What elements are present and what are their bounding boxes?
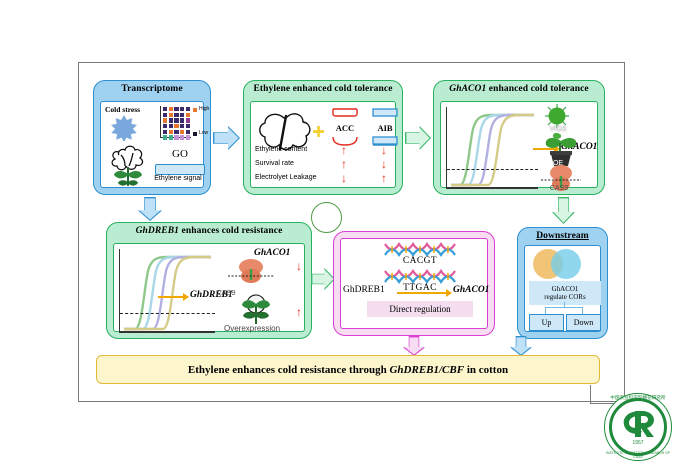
arrow-downstream-to-banner: [510, 336, 532, 356]
heatmap-row: [163, 135, 199, 139]
heatmap-legend-high-swatch: [193, 108, 197, 112]
metric-acc-trend-ethylene-content: ↑: [341, 144, 347, 156]
panel-transcriptome: Transcriptome Cold stress: [93, 80, 211, 195]
panel-ghaco1-body: GhACO1 VIGS OE: [440, 101, 598, 188]
summary-banner-text: Ethylene enhances cold resistance throug…: [188, 364, 508, 376]
heatmap-cell: [180, 135, 184, 139]
updown-connector-stem: [564, 302, 565, 308]
heatmap-cell: [169, 107, 173, 111]
metric-aib-trend-electrolyte-leakage: ↑: [381, 172, 387, 184]
aib-label: AIB: [367, 123, 403, 133]
arrow-ethylene-to-ghaco1: [405, 126, 431, 150]
overexpression-label: Overexpression: [224, 324, 280, 333]
logo-chinese-text: 中国农业科学院棉花研究所: [604, 395, 672, 401]
heatmap-cell: [174, 118, 178, 122]
arrow-ghaco1-to-downstream: [552, 197, 575, 224]
logo-year: 1957: [604, 440, 672, 446]
downstream-up-box: Up: [529, 314, 564, 331]
motif-cacgt: CACGT: [383, 256, 457, 266]
acc-vessel-top-icon: [331, 108, 359, 117]
arrow-transcriptome-to-ghdreb1: [138, 197, 162, 221]
heatmap-cell: [163, 135, 167, 139]
heatmap-cell: [163, 118, 167, 122]
panel-downstream-body: GhACO1 regulate CORs Up Down: [524, 245, 601, 332]
summary-banner: Ethylene enhances cold resistance throug…: [96, 355, 600, 384]
direct-source-tf-label: GhDREB1: [343, 285, 385, 295]
updown-connector-right: [582, 307, 583, 314]
panel-ghaco1-title-rest: enhanced cold tolerance: [486, 84, 588, 94]
qpcr-plot-ghaco1: [446, 107, 538, 189]
heatmap-cell: [163, 107, 167, 111]
heatmap-y-axis: [160, 106, 161, 138]
heatmap-cell: [174, 113, 178, 117]
overexpression-cotton-icon: [232, 292, 280, 326]
metric-label-electrolyte-leakage: Electrolyet Leakage: [255, 174, 316, 181]
dna-helix-icon-2: [383, 269, 457, 284]
logo-cr-monogram-icon: [618, 408, 658, 440]
ethylene-signal-bar: [155, 164, 205, 175]
heatmap-cell: [163, 113, 167, 117]
qpcr-threshold-line-2: [120, 313, 215, 314]
panel-transcriptome-body: Cold stress High Low: [100, 101, 204, 188]
metric-acc-trend-electrolyte-leakage: ↓: [341, 172, 347, 184]
cor-caption-line1: GhACO1: [552, 285, 579, 293]
updown-connector-left: [545, 307, 546, 314]
dna-helix-icon-1: [383, 242, 457, 257]
heatmap-cell: [186, 118, 190, 122]
metric-label-ethylene-content: Ethylene content: [255, 146, 307, 153]
metric-acc-trend-survival-rate: ↑: [341, 158, 347, 170]
acc-label: ACC: [327, 123, 363, 133]
cas9-protein-icon-2: [228, 258, 274, 284]
heatmap-cell: [186, 107, 190, 111]
connector-node: [311, 202, 342, 233]
heatmap-cell: [186, 113, 190, 117]
panel-ghdreb1-title-gene: GhDREB1: [136, 226, 179, 236]
panel-ghaco1-title-gene: GhACO1: [449, 84, 486, 94]
panel-ethylene-title: Ethylene enhanced cold tolerance: [244, 84, 402, 94]
heatmap-cell: [180, 130, 184, 134]
direct-target-gene-label: GhACO1: [453, 285, 489, 295]
heatmap-cell: [180, 107, 184, 111]
ghaco1-oe-trend: ↑: [296, 306, 302, 318]
panel-ethylene-body: ACC AIB Ethylene content Survival rate E…: [250, 101, 396, 188]
panel-direct-body: CACGT TTGAC GhDREB1 GhACO1 Direct regula…: [340, 238, 488, 329]
arrow-ghdreb1-to-direct: [311, 268, 335, 290]
panel-ghdreb1-title-rest: enhances cold resistance: [179, 226, 282, 236]
heatmap-legend-low-label: Low: [199, 130, 208, 136]
heatmap-cell: [180, 113, 184, 117]
cold-stress-label: Cold stress: [105, 105, 140, 114]
heatmap-cell: [186, 124, 190, 128]
panel-ghaco1-title: GhACO1 enhanced cold tolerance: [434, 84, 604, 94]
go-enrichment-label: GO: [160, 148, 200, 160]
plus-icon: [313, 126, 324, 137]
heatmap-cell: [163, 130, 167, 134]
heatmap-cell: [186, 130, 190, 134]
heatmap-cell: [174, 107, 178, 111]
heatmap-cell: [169, 113, 173, 117]
panel-downstream-title: Downstream: [518, 231, 607, 241]
heatmap-cell: [180, 124, 184, 128]
heatmap-legend-low-swatch: [193, 132, 197, 136]
heatmap-cell: [174, 130, 178, 134]
metric-label-survival-rate: Survival rate: [255, 160, 294, 167]
qpcr-curves: [446, 107, 538, 189]
figure-canvas: Transcriptome Cold stress: [0, 0, 700, 467]
panel-ghdreb1-body: GhDREB1 CAS9 GhACO1 ↓ Overexpression ↑: [113, 243, 305, 332]
heatmap-cell: [180, 118, 184, 122]
arrow-direct-regulation: [397, 292, 453, 294]
vigs-virus-icon: [545, 104, 569, 128]
venn-circle-right: [551, 249, 581, 279]
heatmap-row: [163, 124, 199, 128]
heatmap-row: [163, 118, 199, 122]
panel-ghaco1-cold-tolerance: GhACO1 enhanced cold tolerance: [433, 80, 605, 195]
panel-ghdreb1-cold-resistance: GhDREB1 enhances cold resistance: [106, 222, 312, 339]
institute-logo: 中国农业科学院棉花研究所 1957 INSTITUTE OF COTTON RE…: [604, 393, 672, 461]
heatmap-cell: [169, 124, 173, 128]
arrow-transcriptome-to-ethylene: [213, 126, 240, 150]
panel-downstream: Downstream GhACO1 regulate CORs Up Down: [517, 227, 608, 339]
ghaco1-cas9-trend: ↓: [296, 260, 302, 272]
heatmap-row: [163, 113, 199, 117]
heatmap-cell: [169, 118, 173, 122]
metric-aib-trend-ethylene-content: ↓: [381, 144, 387, 156]
heatmap-cell: [186, 135, 190, 139]
logo-english-text: INSTITUTE OF COTTON RESEARCH OF CAAS: [604, 451, 672, 459]
ethylene-signal-label: Ethylene signal: [147, 175, 209, 182]
heatmap-cell: [169, 135, 173, 139]
aib-vessel-top-icon: [371, 108, 399, 117]
venn-diagram: [533, 249, 597, 279]
heatmap-cell: [174, 124, 178, 128]
panel-direct-regulation: CACGT TTGAC GhDREB1 GhACO1 Direct regula…: [333, 231, 495, 336]
arrow-to-ghdreb1-label: [158, 296, 190, 298]
panel-ghdreb1-title: GhDREB1 enhances cold resistance: [107, 226, 311, 236]
qpcr-threshold-line: [447, 169, 538, 170]
metric-aib-trend-survival-rate: ↓: [381, 158, 387, 170]
cor-caption-line2: regulate CORs: [544, 293, 585, 301]
direct-regulation-chip: Direct regulation: [367, 301, 473, 317]
downstream-down-box: Down: [566, 314, 601, 331]
panel-ethylene-cold-tolerance: Ethylene enhanced cold tolerance ACC: [243, 80, 403, 195]
heatmap-cell: [169, 130, 173, 134]
heatmap-legend-high-label: High: [199, 106, 209, 112]
ghaco1-target-label: GhACO1: [254, 248, 290, 258]
heatmap-cell: [163, 124, 167, 128]
panel-transcriptome-title: Transcriptome: [94, 84, 210, 94]
heatmap-cell: [174, 135, 178, 139]
cas9-label: CAS9: [539, 185, 579, 192]
arrow-direct-to-banner: [403, 336, 425, 356]
